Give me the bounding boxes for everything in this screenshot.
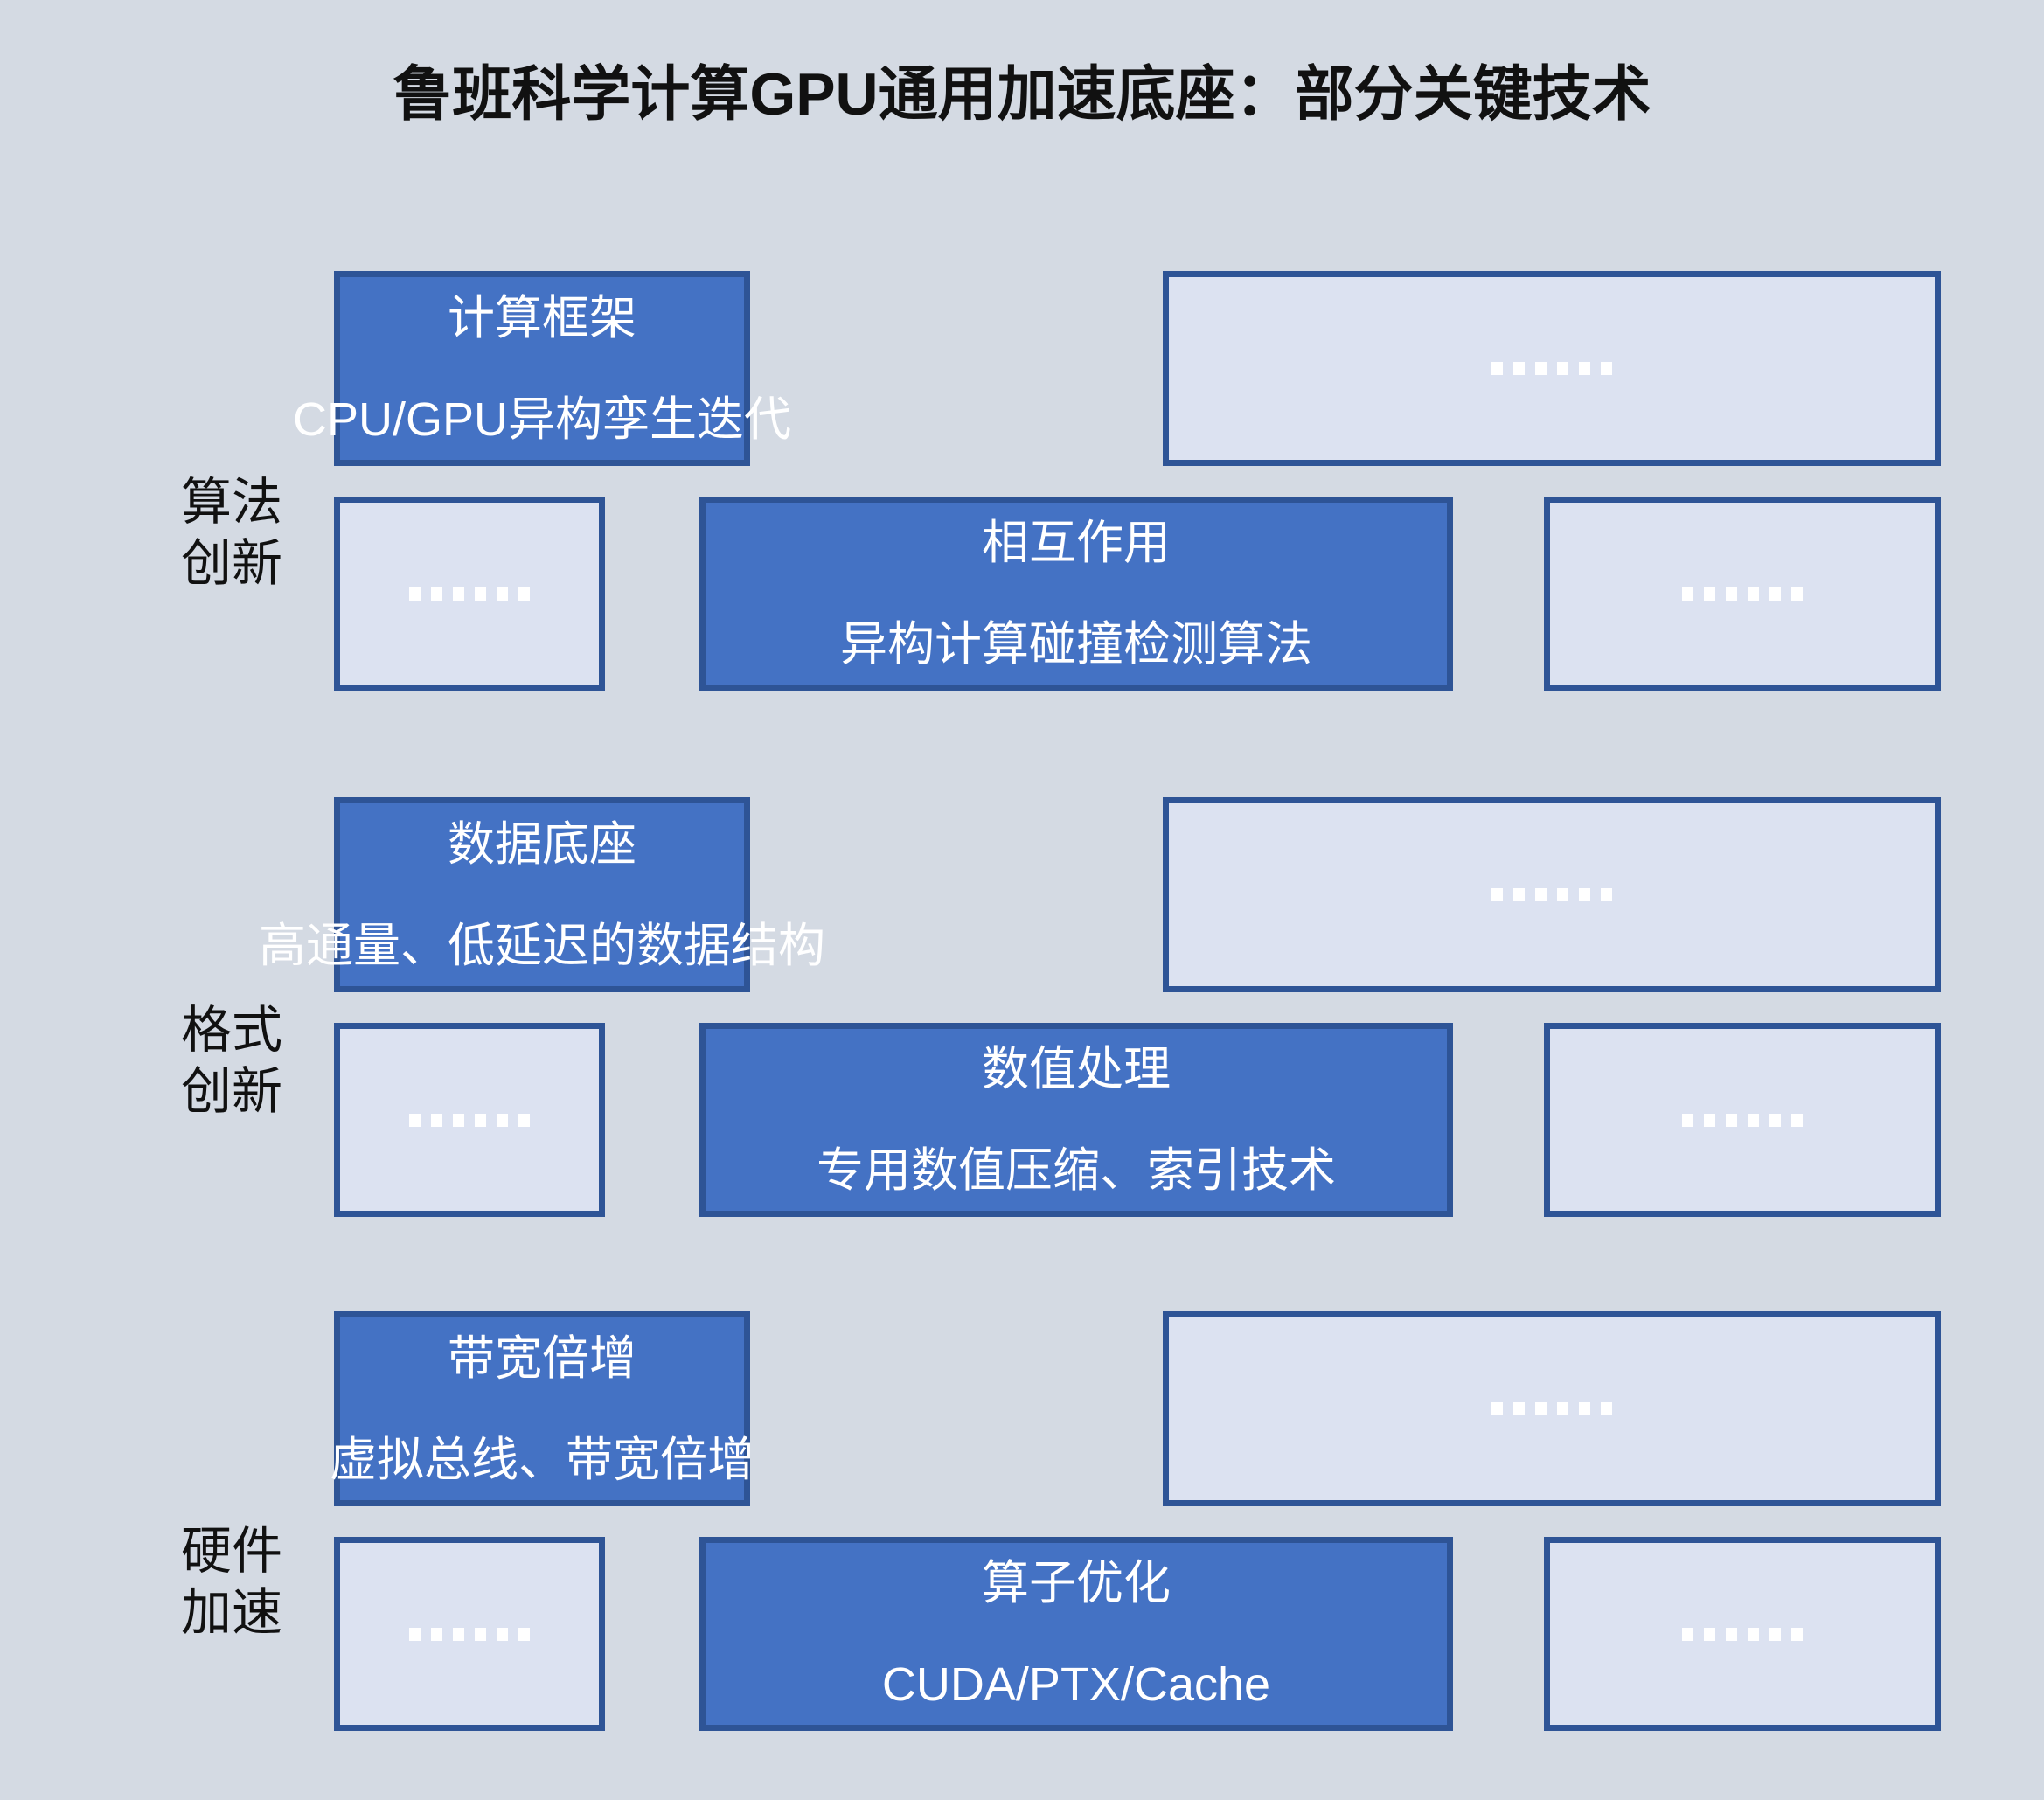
row-label-algorithm: 算法 创新 [131,472,332,594]
placeholder-card-bottom-left-format[interactable] [334,1023,605,1217]
card-subtitle: 虚拟总线、带宽倍增 [330,1433,754,1487]
row-label-format: 格式 创新 [131,1000,332,1122]
placeholder-card-bottom-right-format[interactable] [1544,1023,1941,1217]
ellipsis-icon [409,587,530,601]
card-title: 数据底座 [448,817,636,872]
card-subtitle: 专用数值压缩、索引技术 [817,1143,1336,1198]
section-row-algorithm: 算法 创新 计算框架 CPU/GPU异构孪生迭代 相互作用 异构计算碰撞检测算法 [0,271,2044,691]
card-bandwidth-multiplication[interactable]: 带宽倍增 虚拟总线、带宽倍增 [334,1311,750,1506]
ellipsis-icon [1682,587,1803,601]
ellipsis-icon [1491,362,1612,375]
row-label-hardware: 硬件 加速 [131,1521,332,1644]
card-title: 带宽倍增 [448,1331,636,1386]
card-title: 数值处理 [982,1042,1171,1096]
slide-root: 鲁班科学计算GPU通用加速底座：部分关键技术 算法 创新 计算框架 CPU/GP… [0,0,2044,1800]
card-subtitle: CPU/GPU异构孪生迭代 [293,393,791,447]
card-operator-optimization[interactable]: 算子优化 CUDA/PTX/Cache [699,1537,1453,1731]
ellipsis-icon [1682,1114,1803,1127]
card-compute-framework[interactable]: 计算框架 CPU/GPU异构孪生迭代 [334,271,750,466]
card-subtitle: CUDA/PTX/Cache [882,1658,1270,1712]
card-title: 计算框架 [448,291,636,345]
card-title: 算子优化 [982,1556,1171,1610]
ellipsis-icon [1491,888,1612,901]
ellipsis-icon [409,1114,530,1127]
section-row-hardware: 硬件 加速 带宽倍增 虚拟总线、带宽倍增 算子优化 CUDA/PTX/Cache [0,1311,2044,1740]
placeholder-card-bottom-left-algorithm[interactable] [334,497,605,691]
card-subtitle: 高通量、低延迟的数据结构 [259,919,825,973]
card-subtitle: 异构计算碰撞检测算法 [840,617,1312,671]
ellipsis-icon [409,1628,530,1641]
section-row-format: 格式 创新 数据底座 高通量、低延迟的数据结构 数值处理 专用数值压缩、索引技术 [0,797,2044,1226]
page-title: 鲁班科学计算GPU通用加速底座：部分关键技术 [0,45,2044,132]
placeholder-card-bottom-right-hardware[interactable] [1544,1537,1941,1731]
ellipsis-icon [1491,1402,1612,1415]
placeholder-card-bottom-left-hardware[interactable] [334,1537,605,1731]
card-numeric-processing[interactable]: 数值处理 专用数值压缩、索引技术 [699,1023,1453,1217]
card-data-foundation[interactable]: 数据底座 高通量、低延迟的数据结构 [334,797,750,992]
placeholder-card-top-right-algorithm[interactable] [1163,271,1941,466]
placeholder-card-top-right-hardware[interactable] [1163,1311,1941,1506]
placeholder-card-top-right-format[interactable] [1163,797,1941,992]
card-interaction[interactable]: 相互作用 异构计算碰撞检测算法 [699,497,1453,691]
card-title: 相互作用 [982,516,1171,570]
placeholder-card-bottom-right-algorithm[interactable] [1544,497,1941,691]
ellipsis-icon [1682,1628,1803,1641]
